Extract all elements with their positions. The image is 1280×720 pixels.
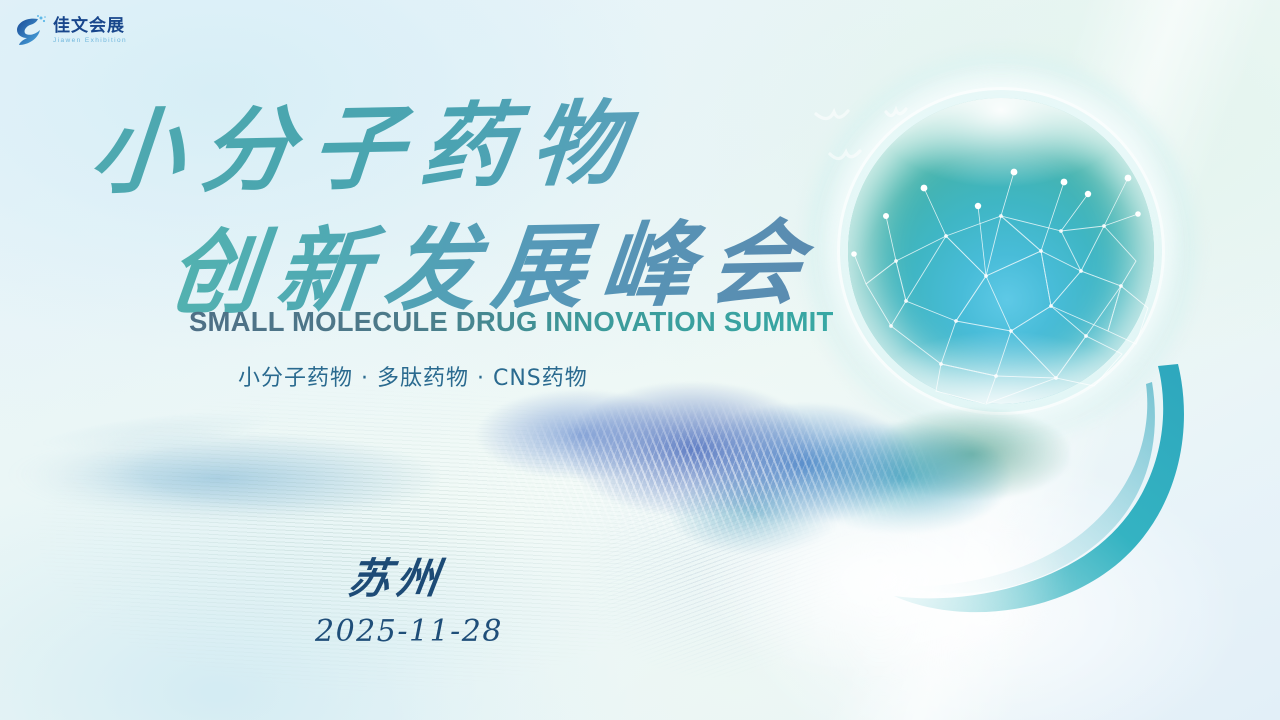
background-wash-bottom-left: [0, 454, 640, 720]
event-date: 2025-11-28: [315, 614, 503, 649]
swoosh-logo-icon: [14, 14, 48, 48]
event-poster: 佳文会展 Jiawen Exhibition 小分子药物 创新发展峰会 SMAL…: [0, 0, 1280, 720]
topic-tagline: 小分子药物 · 多肽药物 · CNS药物: [238, 360, 588, 392]
english-subtitle: SMALL MOLECULE DRUG INNOVATION SUMMIT: [189, 306, 833, 338]
headline-line-1: 小分子药物: [86, 69, 649, 212]
event-city: 苏州: [345, 545, 450, 606]
logo-name-cn: 佳文会展: [53, 18, 127, 36]
flying-birds-icon: [812, 96, 922, 176]
ink-ribbon-left: [0, 368, 680, 558]
logo-name-en: Jiawen Exhibition: [53, 37, 127, 44]
brand-logo[interactable]: 佳文会展 Jiawen Exhibition: [14, 14, 127, 48]
